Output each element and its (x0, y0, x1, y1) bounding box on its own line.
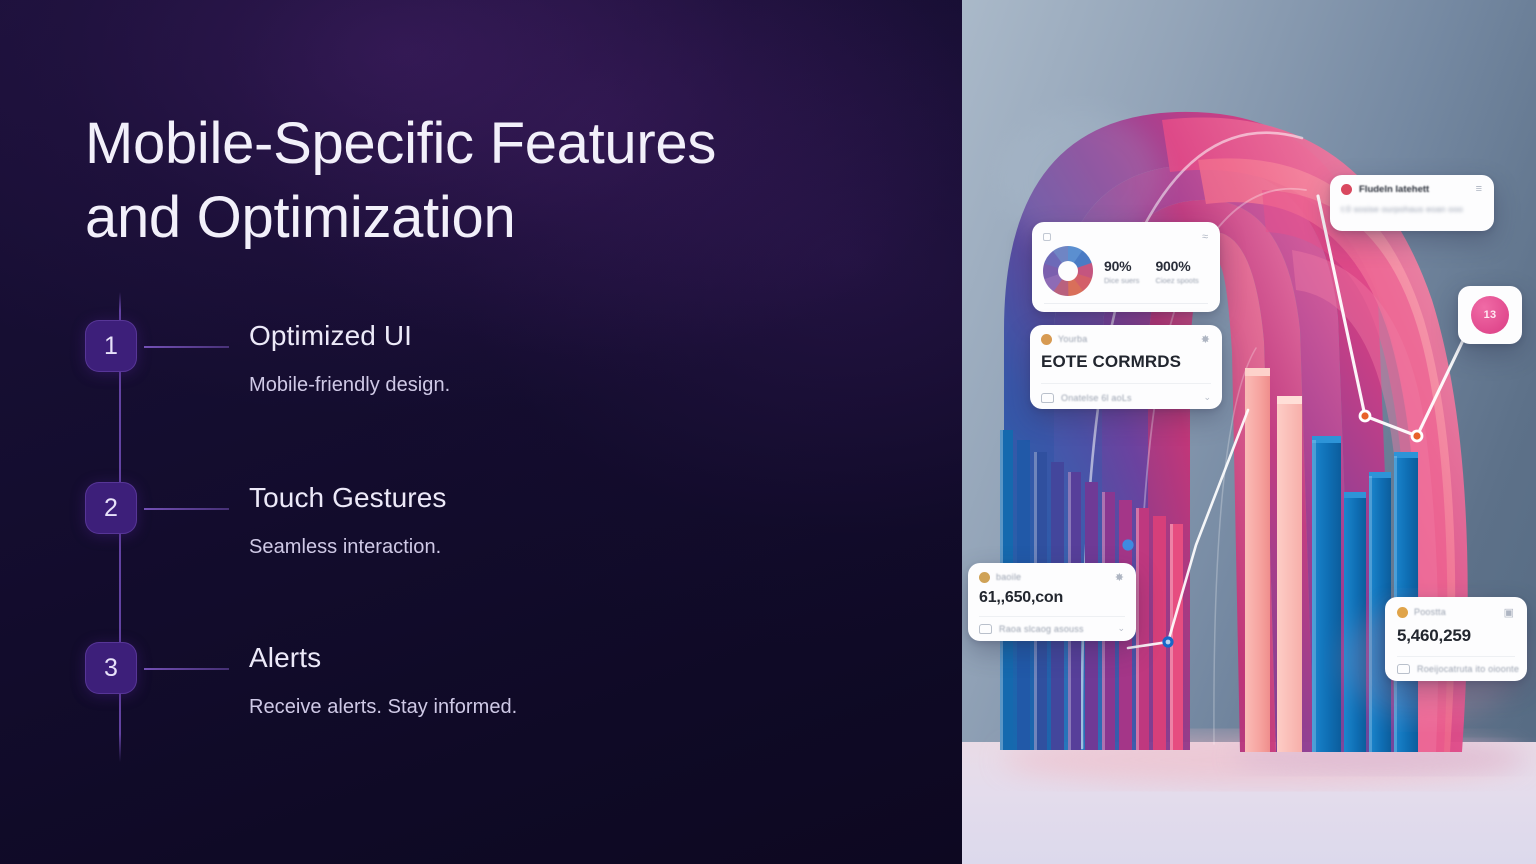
divider (1044, 303, 1208, 304)
stats-card-topbar: ≈ (1043, 231, 1209, 242)
amount-card[interactable]: baoile ✸ 61,,650,con Raoa slcaog asouss … (968, 563, 1136, 641)
notification-card-title: Fludeln latehett (1359, 184, 1429, 195)
step-title: Touch Gestures (249, 482, 447, 514)
notification-card[interactable]: Fludeln latehett ≡ t:0 sosise ourpohaus … (1330, 175, 1494, 231)
total-card-tag: Poostta (1414, 607, 1446, 617)
count-badge: 13 (1471, 296, 1509, 334)
records-card[interactable]: Yourba ✸ EOTE CORMRDS Onatelse 6l aoLs ⌄ (1030, 325, 1222, 409)
stats-card[interactable]: ≈ 90% Dice suers 900% Cioez spoots (1032, 222, 1220, 312)
step-description: Mobile-friendly design. (249, 374, 450, 397)
records-card-headline: EOTE CORMRDS (1041, 352, 1211, 372)
page-title-line-2: and Optimization (85, 181, 915, 255)
step-connector-line (144, 668, 229, 670)
status-dot-icon (979, 572, 990, 583)
grid-icon[interactable]: ▣ (1504, 606, 1515, 619)
stat-block-2: 900% Cioez spoots (1155, 258, 1198, 285)
amount-card-footer[interactable]: Raoa slcaog asouss ⌄ (979, 616, 1125, 634)
step-description: Receive alerts. Stay informed. (249, 696, 517, 719)
step-number-badge: 1 (85, 320, 137, 372)
slide-root: Mobile-Specific Features and Optimizatio… (0, 0, 1536, 864)
status-dot-icon (1397, 607, 1408, 618)
left-content-panel: Mobile-Specific Features and Optimizatio… (0, 0, 962, 864)
status-dot-icon (1341, 184, 1352, 195)
records-card-footer-label: Onatelse 6l aoLs (1061, 393, 1132, 403)
list-item[interactable]: 1 Optimized UI Mobile-friendly design. (85, 320, 825, 446)
stats-card-body: 90% Dice suers 900% Cioez spoots (1043, 246, 1209, 296)
menu-icon[interactable]: ≈ (1202, 231, 1209, 243)
stat-value: 90% (1104, 258, 1139, 274)
step-title: Optimized UI (249, 320, 412, 352)
notification-card-subtitle: t:0 sosise ourpohaus eoan ooo (1341, 204, 1483, 214)
list-item[interactable]: 2 Touch Gestures Seamless interaction. (85, 482, 825, 608)
folder-icon (979, 624, 992, 634)
status-dot-icon (1041, 334, 1052, 345)
records-card-footer[interactable]: Onatelse 6l aoLs ⌄ (1041, 383, 1211, 403)
step-number-badge: 3 (85, 642, 137, 694)
chevron-down-icon[interactable]: ⌄ (1203, 392, 1211, 403)
amount-card-value: 61,,650,con (979, 589, 1125, 607)
page-title: Mobile-Specific Features and Optimizatio… (85, 107, 915, 254)
count-badge-card[interactable]: 13 (1458, 286, 1522, 344)
stat-block-1: 90% Dice suers (1104, 258, 1139, 285)
notification-card-header: Fludeln latehett ≡ (1341, 183, 1483, 195)
list-item[interactable]: 3 Alerts Receive alerts. Stay informed. (85, 642, 825, 768)
chevron-down-icon[interactable]: ⌄ (1117, 623, 1125, 634)
stats-group: 90% Dice suers 900% Cioez spoots (1104, 258, 1199, 285)
page-title-line-1: Mobile-Specific Features (85, 107, 915, 181)
stat-label: Dice suers (1104, 276, 1139, 285)
briefcase-icon (1397, 664, 1410, 674)
amount-card-tag: baoile (996, 572, 1021, 582)
amount-card-footer-label: Raoa slcaog asouss (999, 624, 1084, 634)
total-card[interactable]: Poostta ▣ 5,460,259 Roeijocatruta ito oi… (1385, 597, 1527, 681)
menu-icon[interactable]: ✸ (1201, 333, 1211, 346)
gear-icon[interactable] (1043, 233, 1051, 241)
total-card-header: Poostta ▣ (1397, 606, 1515, 618)
illustration-panel: ≈ 90% Dice suers 900% Cioez spoots (962, 0, 1536, 864)
total-card-value: 5,460,259 (1397, 626, 1515, 646)
total-card-footer: Roeijocatruta ito oioonte (1397, 656, 1515, 674)
step-connector-line (144, 508, 229, 510)
amount-card-header: baoile ✸ (979, 571, 1125, 583)
donut-chart-icon (1043, 246, 1093, 296)
menu-icon[interactable]: ✸ (1115, 571, 1125, 584)
abstract-3d-data-illustration (962, 0, 1536, 864)
hamburger-icon[interactable]: ≡ (1476, 183, 1483, 195)
stat-label: Cioez spoots (1155, 276, 1198, 285)
step-number-badge: 2 (85, 482, 137, 534)
records-card-header: Yourba ✸ (1041, 333, 1211, 345)
step-connector-line (144, 346, 229, 348)
records-card-tag: Yourba (1058, 334, 1087, 344)
step-title: Alerts (249, 642, 321, 674)
total-card-footer-label: Roeijocatruta ito oioonte (1417, 664, 1519, 674)
stat-value: 900% (1155, 258, 1198, 274)
step-description: Seamless interaction. (249, 536, 441, 559)
timeline-list: 1 Optimized UI Mobile-friendly design. 2… (85, 292, 825, 762)
folder-icon (1041, 393, 1054, 403)
